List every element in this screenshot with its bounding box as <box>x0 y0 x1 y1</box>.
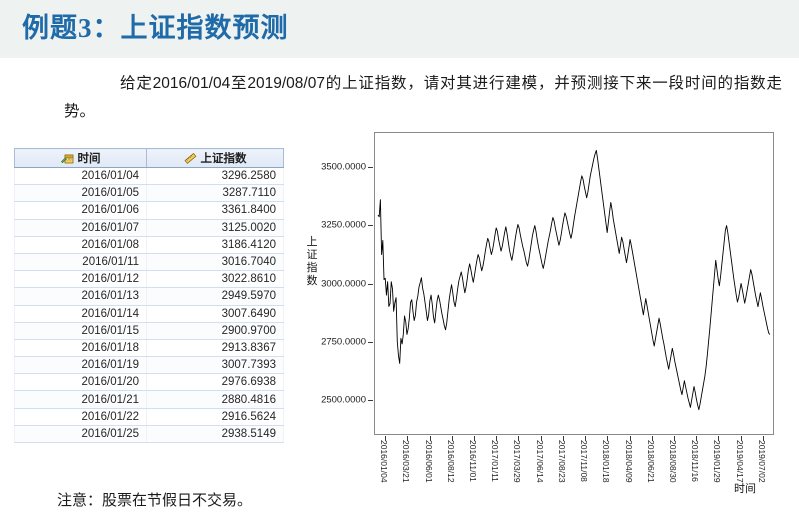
x-tick-label: 2017/01/11 <box>490 440 500 482</box>
cell-index-value[interactable]: 3125.0020 <box>147 219 284 236</box>
table-header-row: 时间 <box>15 149 284 168</box>
table-row[interactable]: 2016/01/053287.7110 <box>15 185 284 202</box>
column-header-index[interactable]: 上证指数 <box>147 149 284 168</box>
x-tick-label: 2018/04/09 <box>624 440 634 483</box>
table-row[interactable]: 2016/01/252938.5149 <box>15 425 284 442</box>
x-tick-label: 2018/06/21 <box>646 440 656 483</box>
x-tick-label: 2017/03/29 <box>512 440 522 483</box>
cell-date[interactable]: 2016/01/08 <box>15 236 147 253</box>
cell-date[interactable]: 2016/01/13 <box>15 288 147 305</box>
x-tick-mark <box>763 436 764 441</box>
x-tick-mark <box>474 436 475 441</box>
x-tick-mark <box>630 436 631 441</box>
table-row[interactable]: 2016/01/043296.2580 <box>15 168 284 185</box>
column-header-index-label: 上证指数 <box>201 150 247 166</box>
y-tick-label: 2500.0000 <box>321 395 366 406</box>
table-row[interactable]: 2016/01/073125.0020 <box>15 219 284 236</box>
x-tick-label: 2018/01/18 <box>601 440 611 483</box>
x-tick-mark <box>674 436 675 441</box>
x-tick-mark <box>430 436 431 441</box>
cell-date[interactable]: 2016/01/05 <box>15 185 147 202</box>
table-row[interactable]: 2016/01/143007.6490 <box>15 305 284 322</box>
x-tick-label: 2016/01/04 <box>379 440 389 483</box>
table-row[interactable]: 2016/01/152900.9700 <box>15 322 284 339</box>
x-tick-label: 2017/06/14 <box>535 440 545 483</box>
cell-date[interactable]: 2016/01/11 <box>15 253 147 270</box>
x-tick-label: 2019/01/29 <box>712 440 722 483</box>
date-icon <box>61 153 74 164</box>
x-tick-mark <box>741 436 742 441</box>
cell-index-value[interactable]: 2880.4816 <box>147 391 284 408</box>
x-tick-mark <box>452 436 453 441</box>
y-tick-mark <box>368 284 373 285</box>
x-tick-mark <box>541 436 542 441</box>
table-row[interactable]: 2016/01/113016.7040 <box>15 253 284 270</box>
column-header-date[interactable]: 时间 <box>15 149 147 168</box>
cell-index-value[interactable]: 3022.8610 <box>147 271 284 288</box>
cell-date[interactable]: 2016/01/15 <box>15 322 147 339</box>
body-paragraph: 给定2016/01/04至2019/08/07的上证指数，请对其进行建模，并预测… <box>64 70 782 126</box>
line-chart: 上证指数 2500.00002750.00003000.00003250.000… <box>290 128 790 503</box>
y-tick-mark <box>368 342 373 343</box>
y-tick-label: 3250.0000 <box>321 220 366 231</box>
cell-date[interactable]: 2016/01/25 <box>15 425 147 442</box>
cell-index-value[interactable]: 2913.8367 <box>147 339 284 356</box>
x-tick-mark <box>607 436 608 441</box>
x-tick-mark <box>585 436 586 441</box>
chart-x-axis-title: 时间 <box>734 480 756 496</box>
chart-y-ticklabels: 2500.00002750.00003000.00003250.00003500… <box>290 128 374 439</box>
x-tick-label: 2019/04/17 <box>735 440 745 483</box>
cell-index-value[interactable]: 3361.8400 <box>147 202 284 219</box>
cell-index-value[interactable]: 2938.5149 <box>147 425 284 442</box>
cell-date[interactable]: 2016/01/21 <box>15 391 147 408</box>
x-tick-mark <box>652 436 653 441</box>
cell-index-value[interactable]: 3007.6490 <box>147 305 284 322</box>
x-tick-mark <box>563 436 564 441</box>
column-header-date-label: 时间 <box>78 150 101 166</box>
x-tick-label: 2016/03/21 <box>401 440 411 483</box>
x-tick-label: 2019/07/02 <box>757 440 767 483</box>
x-tick-mark <box>518 436 519 441</box>
cell-date[interactable]: 2016/01/22 <box>15 408 147 425</box>
cell-index-value[interactable]: 3016.7040 <box>147 253 284 270</box>
chart-x-ticklabels: 2016/01/042016/03/212016/06/012016/08/12… <box>374 436 774 516</box>
x-tick-label: 2017/08/23 <box>557 440 567 483</box>
cell-index-value[interactable]: 3296.2580 <box>147 168 284 185</box>
table-row[interactable]: 2016/01/212880.4816 <box>15 391 284 408</box>
x-tick-label: 2016/08/12 <box>446 440 456 483</box>
cell-index-value[interactable]: 3287.7110 <box>147 185 284 202</box>
spss-data-table: 时间 <box>14 148 284 443</box>
x-tick-mark <box>718 436 719 441</box>
y-tick-label: 3500.0000 <box>321 161 366 172</box>
cell-date[interactable]: 2016/01/04 <box>15 168 147 185</box>
scale-ruler-icon <box>184 153 197 164</box>
y-tick-label: 3000.0000 <box>321 278 366 289</box>
y-tick-mark <box>368 225 373 226</box>
x-tick-label: 2018/08/30 <box>668 440 678 483</box>
cell-date[interactable]: 2016/01/20 <box>15 374 147 391</box>
note-text: 注意：股票在节假日不交易。 <box>57 489 252 510</box>
cell-date[interactable]: 2016/01/07 <box>15 219 147 236</box>
cell-index-value[interactable]: 2976.6938 <box>147 374 284 391</box>
table-row[interactable]: 2016/01/222916.5624 <box>15 408 284 425</box>
cell-index-value[interactable]: 3186.4120 <box>147 236 284 253</box>
table-row[interactable]: 2016/01/123022.8610 <box>15 271 284 288</box>
page-title: 例题3：上证指数预测 <box>22 6 289 45</box>
cell-date[interactable]: 2016/01/14 <box>15 305 147 322</box>
cell-index-value[interactable]: 2916.5624 <box>147 408 284 425</box>
table-row[interactable]: 2016/01/182913.8367 <box>15 339 284 356</box>
cell-date[interactable]: 2016/01/06 <box>15 202 147 219</box>
table-body: 2016/01/043296.25802016/01/053287.711020… <box>15 168 284 443</box>
x-tick-mark <box>696 436 697 441</box>
cell-date[interactable]: 2016/01/12 <box>15 271 147 288</box>
y-tick-mark <box>368 400 373 401</box>
x-tick-label: 2016/11/01 <box>468 440 478 482</box>
cell-index-value[interactable]: 3007.7393 <box>147 357 284 374</box>
cell-index-value[interactable]: 2949.5970 <box>147 288 284 305</box>
cell-date[interactable]: 2016/01/18 <box>15 339 147 356</box>
y-tick-mark <box>368 167 373 168</box>
slide-root: 例题3：上证指数预测 给定2016/01/04至2019/08/07的上证指数，… <box>0 0 799 528</box>
table-row[interactable]: 2016/01/132949.5970 <box>15 288 284 305</box>
y-tick-label: 2750.0000 <box>321 336 366 347</box>
cell-date[interactable]: 2016/01/19 <box>15 357 147 374</box>
table-row[interactable]: 2016/01/193007.7393 <box>15 357 284 374</box>
table-row[interactable]: 2016/01/083186.4120 <box>15 236 284 253</box>
chart-series-svg <box>375 133 773 434</box>
x-tick-mark <box>496 436 497 441</box>
x-tick-mark <box>385 436 386 441</box>
chart-plot-area <box>374 132 774 435</box>
table-row[interactable]: 2016/01/202976.6938 <box>15 374 284 391</box>
cell-index-value[interactable]: 2900.9700 <box>147 322 284 339</box>
table-row[interactable]: 2016/01/063361.8400 <box>15 202 284 219</box>
x-tick-label: 2016/06/01 <box>424 440 434 483</box>
x-tick-label: 2018/11/16 <box>690 440 700 482</box>
x-tick-mark <box>407 436 408 441</box>
x-tick-label: 2017/11/08 <box>579 440 589 482</box>
